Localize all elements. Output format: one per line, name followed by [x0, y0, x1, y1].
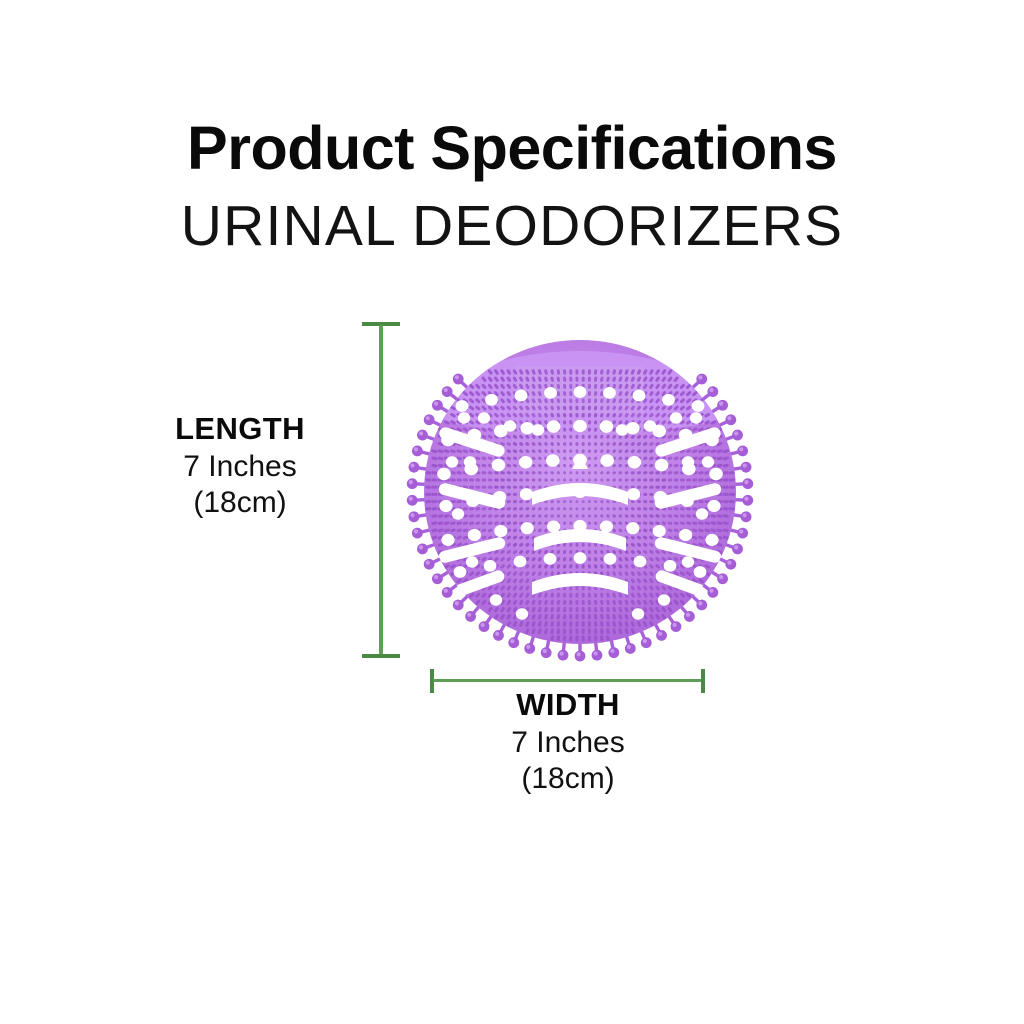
- product-hole: [492, 459, 506, 472]
- product-hole: [468, 529, 481, 541]
- product-hole: [504, 420, 516, 431]
- page-heading-block: Product Specifications URINAL DEODORIZER…: [0, 118, 1024, 255]
- product-hole: [466, 556, 478, 567]
- product-hole: [670, 412, 682, 423]
- product-hole: [452, 508, 464, 519]
- product-hole: [519, 456, 533, 469]
- product-hole: [547, 520, 560, 532]
- product-hole: [662, 394, 675, 406]
- product-hole: [458, 412, 470, 423]
- width-dimension-shaft: [433, 679, 702, 682]
- product-hole: [514, 556, 527, 568]
- product-hole: [544, 553, 557, 565]
- width-label-title: WIDTH: [448, 688, 688, 723]
- width-label-block: WIDTH 7 Inches (18cm): [448, 688, 688, 797]
- product-hole: [478, 412, 490, 423]
- product-hole: [516, 608, 528, 619]
- product-hole: [633, 390, 646, 402]
- product-hole: [574, 386, 587, 398]
- product-hole: [682, 456, 694, 467]
- product-hole: [485, 394, 498, 406]
- product-hole: [644, 420, 656, 431]
- product-hole: [628, 456, 642, 469]
- product-hole: [600, 520, 613, 532]
- length-label-metric: (18cm): [120, 485, 360, 521]
- product-hole: [574, 552, 587, 564]
- product-hole: [600, 454, 614, 467]
- product-hole: [634, 556, 647, 568]
- product-hole: [490, 594, 502, 605]
- product-hole: [494, 525, 507, 537]
- product-hole: [464, 456, 476, 467]
- product-hole: [679, 529, 692, 541]
- product-hole: [709, 468, 723, 481]
- product-hole: [690, 412, 702, 423]
- length-label-value: 7 Inches: [120, 449, 360, 485]
- product-hole: [626, 422, 640, 435]
- width-label-value: 7 Inches: [448, 725, 688, 761]
- width-dimension-cap-right: [701, 669, 705, 693]
- product-hole: [616, 424, 628, 435]
- product-hole: [626, 522, 639, 534]
- product-hole: [702, 456, 714, 467]
- product-hole: [692, 400, 705, 412]
- product-hole: [484, 560, 497, 572]
- product-hole: [655, 459, 669, 472]
- product-hole: [705, 534, 718, 546]
- page-subtitle: URINAL DEODORIZERS: [0, 198, 1024, 255]
- product-hole: [532, 424, 544, 435]
- product-hole: [456, 400, 469, 412]
- product-hole: [664, 560, 677, 572]
- product-hole: [544, 387, 557, 399]
- product-hole: [521, 522, 534, 534]
- product-embossed-text: FOR SEE FOR CHANGE DATE: [502, 332, 657, 342]
- product-hole: [441, 534, 454, 546]
- product-hole: [658, 594, 670, 605]
- product-hole: [653, 525, 666, 537]
- product-hole: [546, 454, 560, 467]
- product-hole: [604, 553, 617, 565]
- length-dimension-shaft: [379, 325, 383, 655]
- product-hole: [520, 488, 533, 500]
- product-hole: [547, 420, 561, 433]
- product-hole: [573, 420, 587, 433]
- product-hole: [603, 387, 616, 399]
- product-hole: [632, 608, 644, 619]
- width-label-metric: (18cm): [448, 761, 688, 797]
- product-hole: [694, 566, 707, 578]
- product-hole: [707, 500, 720, 512]
- length-label-title: LENGTH: [120, 412, 360, 447]
- product-image: FOR SEE FOR CHANGE DATE: [392, 314, 768, 670]
- product-hole: [682, 556, 694, 567]
- product-hole: [446, 456, 458, 467]
- page-title: Product Specifications: [0, 118, 1024, 179]
- product-hole: [515, 390, 528, 402]
- length-label-block: LENGTH 7 Inches (18cm): [120, 412, 360, 521]
- product-hole: [696, 508, 708, 519]
- product-hole: [600, 420, 614, 433]
- product-hole: [439, 500, 452, 512]
- product-hole: [520, 422, 534, 435]
- product-hole: [627, 488, 640, 500]
- product-hole: [454, 566, 467, 578]
- product-hole: [437, 468, 451, 481]
